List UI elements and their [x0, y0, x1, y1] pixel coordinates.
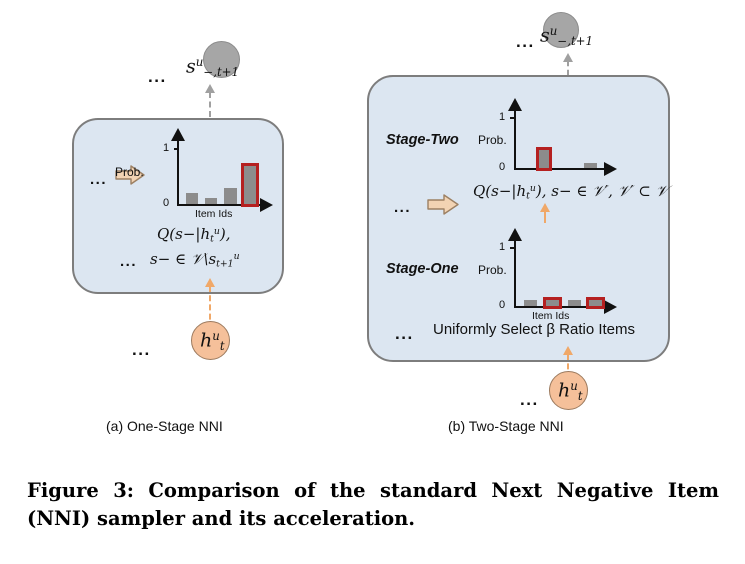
stage-two-label: Stage-Two [386, 133, 459, 148]
input-node-a-sup: u [212, 329, 220, 343]
y-axis-arrowhead-a [171, 128, 185, 141]
y-tick-1-stage-two [510, 117, 515, 119]
ellipsis-panel-a-formula: ... [120, 254, 137, 269]
subcaption-a: (a) One-Stage NNI [106, 419, 223, 433]
arrow-panel-b-to-output [563, 53, 573, 75]
y-axis-stage-two [514, 110, 516, 170]
output-node-a-sub: −,t+1 [203, 65, 239, 79]
ellipsis-panel-b-middle: ... [394, 200, 411, 215]
formula-b-q: Q(s−|h [473, 182, 526, 200]
y-axis-title-stage-one: Prob. [478, 264, 507, 276]
bar-stage-one-4-highlighted [589, 300, 602, 306]
x-axis-title-stage-one: Item Ids [532, 311, 569, 322]
arrow-stem [209, 92, 211, 117]
output-node-b-label: su−,t+1 [540, 26, 593, 48]
y-tick-label-0-a: 0 [163, 198, 169, 209]
input-node-b-label: hut [558, 381, 583, 403]
y-tick-label-1-a: 1 [163, 143, 169, 154]
subcaption-b: (b) Two-Stage NNI [448, 419, 564, 433]
input-node-b-sub: t [578, 389, 583, 403]
ellipsis-panel-b-top: ... [516, 33, 535, 50]
x-axis-title-a: Item Ids [195, 209, 232, 220]
x-axis-arrowhead-a [260, 198, 273, 212]
y-tick-label-1-stage-two: 1 [499, 112, 505, 123]
formula-panel-a-line1: Q(s−|htu), [157, 227, 231, 244]
bar-stage-one-3 [568, 300, 581, 306]
ellipsis-panel-a-bottom: ... [132, 341, 151, 358]
ellipsis-panel-b-bottom-row: ... [395, 325, 414, 342]
formula-a-set: s− ∈ 𝒱\s [150, 250, 216, 268]
bar-stage-one-2-highlighted [546, 300, 559, 306]
x-axis-stage-two [514, 168, 606, 170]
ellipsis-panel-a-probrow: ... [90, 172, 107, 187]
ellipsis-panel-b-bottom: ... [520, 391, 539, 408]
y-axis-stage-one [514, 240, 516, 308]
input-node-a-label: hut [200, 331, 225, 353]
figure-caption: Figure 3: Comparison of the standard Nex… [27, 477, 719, 532]
output-node-b-sub: −,t+1 [557, 34, 593, 48]
y-tick-label-0-stage-one: 0 [499, 300, 505, 311]
formula-a-q: Q(s−|h [157, 225, 210, 243]
arrow-stem [544, 211, 546, 223]
bar-a-2 [205, 198, 217, 204]
formula-stage-two: Q(s−|htu), s− ∈ 𝒱′, 𝒱′ ⊂ 𝒱 [473, 184, 668, 201]
x-axis-stage-one [514, 306, 606, 308]
arrow-panel-a-to-output [205, 84, 215, 117]
x-axis-arrowhead-stage-one [604, 300, 617, 314]
y-axis-a [177, 140, 179, 206]
stage-one-caption: Uniformly Select β Ratio Items [433, 322, 635, 337]
chart-stage-one: 1 0 Prob. Item Ids [484, 228, 634, 318]
figure-graphic: ... su−,t+1 ... 1 0 Prob. Item Ids ... Q… [0, 0, 745, 460]
y-tick-label-1-stage-one: 1 [499, 242, 505, 253]
chart-stage-two: 1 0 Prob. [484, 98, 629, 178]
y-axis-title-a: Prob. [115, 166, 144, 178]
y-axis-arrowhead-stage-two [508, 98, 522, 111]
x-axis-arrowhead-stage-two [604, 162, 617, 176]
y-axis-arrowhead-stage-one [508, 228, 522, 241]
y-tick-label-0-stage-two: 0 [499, 162, 505, 173]
formula-a-close: ), [220, 225, 231, 243]
input-node-b-sup: u [570, 379, 578, 393]
block-arrow-icon-b [427, 194, 459, 215]
formula-panel-a-line2: s− ∈ 𝒱\st+1u [150, 252, 240, 269]
y-axis-title-stage-two: Prob. [478, 134, 507, 146]
output-node-a-label: su−,t+1 [186, 57, 239, 79]
bar-a-1 [186, 193, 198, 204]
y-tick-1-a [174, 148, 179, 150]
bar-a-3 [224, 188, 237, 204]
bar-stage-one-1 [524, 300, 537, 306]
formula-a-sup-u2: u [234, 251, 240, 262]
arrow-stem [567, 61, 569, 75]
x-axis-a [177, 204, 262, 206]
bar-stage-two-1-highlighted [539, 150, 549, 168]
y-tick-1-stage-one [510, 247, 515, 249]
ellipsis-panel-a-top: ... [148, 68, 167, 85]
chart-panel-a: 1 0 Prob. Item Ids [150, 128, 280, 216]
arrow-stage-one-to-stage-two [540, 203, 550, 223]
bar-stage-two-2 [584, 163, 597, 168]
formula-a-sub-t1: t+1 [216, 259, 233, 270]
formula-b-rest: ), s− ∈ 𝒱′, 𝒱′ ⊂ 𝒱 [536, 182, 668, 200]
input-node-a-sub: t [220, 339, 225, 353]
stage-one-label: Stage-One [386, 262, 459, 277]
bar-a-4-highlighted [244, 166, 256, 204]
